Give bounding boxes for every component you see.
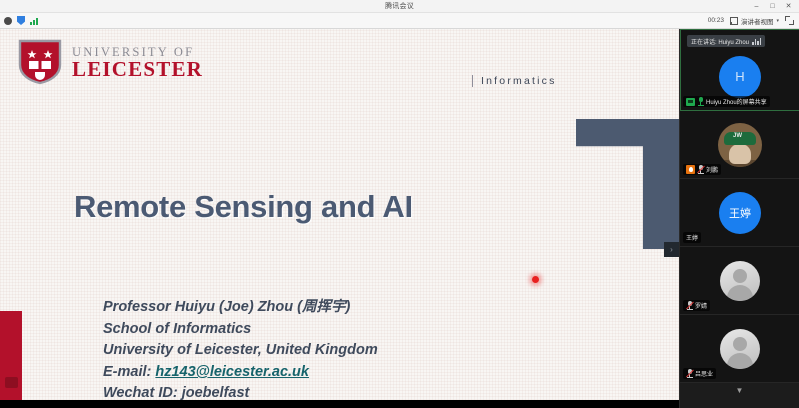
university-brand: UNIVERSITY OF LEICESTER [18, 39, 203, 85]
presenter-school: School of Informatics [103, 319, 378, 341]
presenter-wechat: Wechat ID: joebelfast [103, 383, 378, 400]
avatar: H [719, 56, 761, 98]
decorative-elbow-shape [576, 119, 679, 249]
microphone-muted-icon [697, 165, 704, 174]
presenter-name: Professor Huiyu (Joe) Zhou (周挥宇) [103, 297, 378, 319]
laser-pointer-dot [532, 276, 539, 283]
close-button[interactable]: ✕ [784, 3, 793, 10]
layout-icon [730, 17, 738, 25]
microphone-icon [697, 97, 704, 106]
participant-tile-4[interactable]: 吕思业 [680, 315, 799, 383]
meeting-toolbar: 00:23 演讲者视图 ▾ [0, 13, 799, 29]
participant-tile-3[interactable]: 罗婧 [680, 247, 799, 315]
email-link[interactable]: hz143@leicester.ac.uk [155, 364, 309, 380]
speaking-banner-label: 正在讲话: Huiyu Zhou [691, 37, 749, 46]
speaking-banner: 正在讲话: Huiyu Zhou [687, 35, 765, 47]
lock-icon[interactable] [4, 17, 12, 25]
avatar: 王婷 [719, 192, 761, 234]
participant-namebar-3: 罗婧 [683, 300, 710, 311]
participant-namebar-4: 吕思业 [683, 368, 716, 379]
scroll-down-chevron-icon[interactable]: ▼ [680, 383, 799, 398]
participant-namebar-0: Huiyu Zhou的屏幕共享 [683, 96, 770, 107]
participant-name: 刘鹏 [706, 165, 718, 174]
participant-name: 罗婧 [695, 301, 707, 310]
presenter-university: University of Leicester, United Kingdom [103, 340, 378, 362]
participant-rail[interactable]: H Huiyu Zhou的屏幕共享 刘鹏 王婷 王婷 [679, 29, 799, 408]
avatar [720, 261, 760, 301]
host-badge-icon [686, 165, 695, 174]
email-label: E-mail: [103, 364, 151, 380]
participant-name: 王婷 [686, 233, 698, 242]
minimize-button[interactable]: – [752, 3, 761, 10]
university-crest-icon [18, 39, 62, 85]
participant-namebar-1: 刘鹏 [683, 164, 721, 175]
screen-share-icon [686, 98, 695, 106]
university-wordmark: UNIVERSITY OF LEICESTER [72, 44, 203, 81]
presenter-email-line: E-mail: hz143@leicester.ac.uk [103, 362, 378, 384]
wordmark-line-2: LEICESTER [72, 59, 203, 80]
shield-icon[interactable] [17, 16, 25, 25]
decorative-red-chip [5, 377, 18, 388]
avatar [720, 329, 760, 369]
toolbar-right-group: 00:23 演讲者视图 ▾ [708, 16, 799, 26]
shared-screen-stage[interactable]: UNIVERSITY OF LEICESTER Informatics › Re… [0, 29, 679, 408]
participant-name: Huiyu Zhou的屏幕共享 [706, 97, 767, 106]
slide-title: Remote Sensing and AI [74, 189, 413, 225]
view-mode-selector[interactable]: 演讲者视图 ▾ [730, 16, 779, 26]
meeting-timer: 00:23 [708, 17, 724, 24]
window-controls: – □ ✕ [752, 0, 797, 13]
window-title: 腾讯会议 [385, 1, 414, 11]
window-titlebar: 腾讯会议 – □ ✕ [0, 0, 799, 13]
view-mode-label: 演讲者视图 [741, 16, 774, 26]
participant-name: 吕思业 [695, 369, 713, 378]
participant-namebar-2: 王婷 [683, 232, 701, 243]
toolbar-left-group [0, 16, 38, 25]
department-label: Informatics [472, 75, 557, 87]
signal-bars-icon[interactable] [30, 17, 38, 25]
maximize-button[interactable]: □ [768, 3, 777, 10]
participant-tile-2[interactable]: 王婷 王婷 [680, 179, 799, 247]
slide-nav-nub[interactable]: › [664, 242, 679, 257]
slide-body: Professor Huiyu (Joe) Zhou (周挥宇) School … [103, 297, 378, 400]
chevron-down-icon: ▾ [776, 18, 779, 24]
avatar [718, 123, 762, 167]
meeting-window: 腾讯会议 – □ ✕ 00:23 演讲者视图 ▾ [0, 0, 799, 408]
fullscreen-icon[interactable] [785, 16, 794, 25]
audio-wave-icon [752, 38, 761, 45]
microphone-muted-icon [686, 301, 693, 310]
microphone-muted-icon [686, 369, 693, 378]
participant-tile-1[interactable]: 刘鹏 [680, 111, 799, 179]
presentation-slide: UNIVERSITY OF LEICESTER Informatics › Re… [0, 29, 679, 400]
